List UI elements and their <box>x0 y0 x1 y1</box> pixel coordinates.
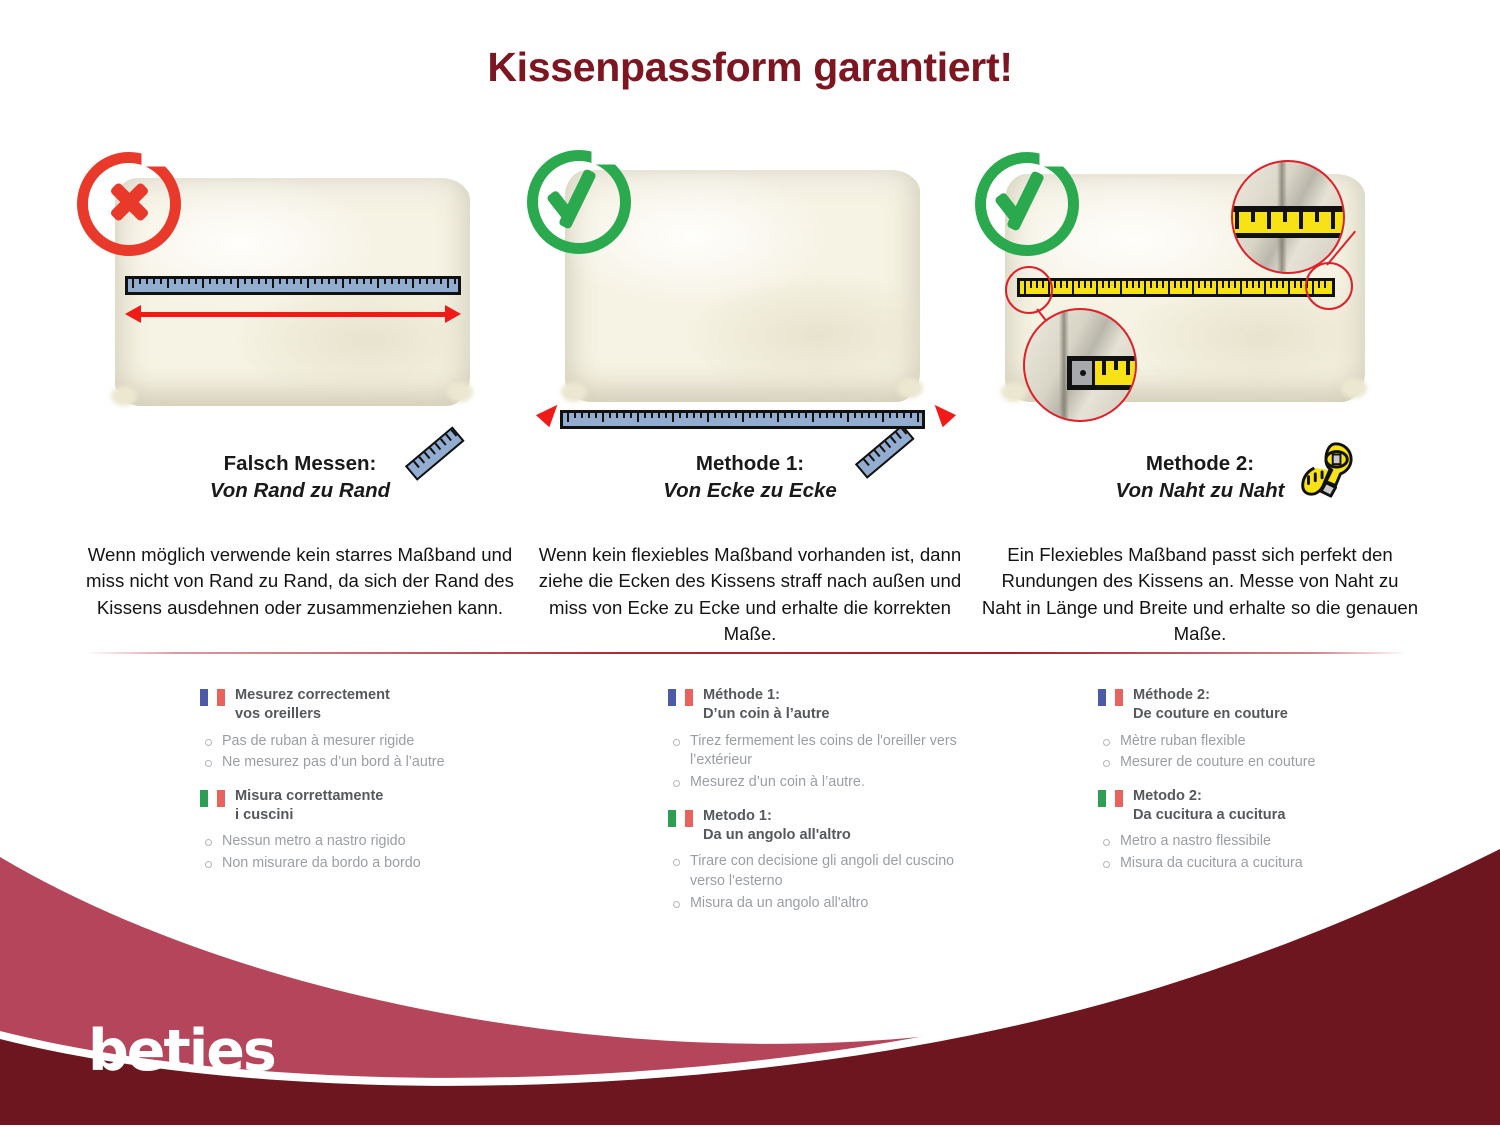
method-heading-3: Methode 2: Von Naht zu Naht <box>975 450 1425 520</box>
heading-sub: Von Naht zu Naht <box>975 477 1425 504</box>
pillow-corner <box>1341 378 1367 398</box>
page-title: Kissenpassform garantiert! <box>0 44 1500 91</box>
flag-italy-icon <box>200 790 225 807</box>
heading-line-1: Metodo 2: <box>1133 787 1285 806</box>
list-item: Mètre ruban flexible <box>1098 732 1408 752</box>
language-heading: Mesurez correctement vos oreillers <box>200 686 500 725</box>
heading-line-1: Misura correttamente <box>235 787 383 806</box>
method-column-3: Methode 2: Von Naht zu Naht Ein Flexiebl… <box>975 150 1425 640</box>
heading-line-2: D’un coin à l’autre <box>703 705 830 724</box>
language-heading: Metodo 2: Da cucitura a cucitura <box>1098 787 1408 826</box>
language-heading-text: Méthode 2: De couture en couture <box>1133 686 1288 725</box>
measurement-arrow <box>139 312 447 317</box>
cross-icon <box>101 174 157 230</box>
heading-main: Methode 2: <box>975 450 1425 477</box>
seam-zoom-bottom <box>1023 308 1137 422</box>
pillow-corner <box>561 382 587 402</box>
illustration-corner-to-corner <box>525 150 975 440</box>
language-bullets: Mètre ruban flexible Mesurer de couture … <box>1098 732 1408 773</box>
method-heading-1: Falsch Messen: Von Rand zu Rand <box>75 450 525 520</box>
heading-line-1: Méthode 1: <box>703 686 830 705</box>
flag-france-icon <box>668 689 693 706</box>
cross-badge <box>77 152 181 256</box>
heading-line-2: Da cucitura a cucitura <box>1133 806 1285 825</box>
corner-arrow-right <box>928 399 956 427</box>
method-column-2: Methode 1: Von Ecke zu Ecke Wenn kein fl… <box>525 150 975 640</box>
language-heading-text: Metodo 2: Da cucitura a cucitura <box>1133 787 1285 826</box>
method-heading-2: Methode 1: Von Ecke zu Ecke <box>525 450 975 520</box>
flexible-tape-measure <box>1017 278 1335 297</box>
language-heading-text: Misura correttamente i cuscini <box>235 787 383 826</box>
method-body-2: Wenn kein flexiebles Maßband vorhanden i… <box>525 542 975 648</box>
ruler-icon <box>855 444 913 502</box>
language-heading: Méthode 1: D’un coin à l’autre <box>668 686 978 725</box>
check-badge <box>975 152 1079 256</box>
list-item: Mesurez d’un coin à l’autre. <box>668 773 978 793</box>
tape-zoom-strip <box>1067 356 1137 390</box>
ruler-icon <box>405 446 463 504</box>
pillow-corner <box>447 382 473 402</box>
heading-line-2: vos oreillers <box>235 705 390 724</box>
language-group-fr: Méthode 1: D’un coin à l’autre Tirez fer… <box>668 686 978 793</box>
method-body-3: Ein Flexiebles Maßband passt sich perfek… <box>975 542 1425 648</box>
pillow-corner <box>1001 382 1027 402</box>
method-column-1: Falsch Messen: Von Rand zu Rand Wenn mög… <box>75 150 525 640</box>
language-group-fr: Mesurez correctement vos oreillers Pas d… <box>200 686 500 773</box>
heading-line-1: Metodo 1: <box>703 807 851 826</box>
list-item: Mesurer de couture en couture <box>1098 753 1408 773</box>
ruler-ticks <box>128 279 458 292</box>
tape-zoom-strip <box>1231 206 1345 238</box>
section-divider <box>85 652 1407 654</box>
heading-line-1: Mesurez correctement <box>235 686 390 705</box>
flag-france-icon <box>200 689 225 706</box>
list-item: Tirez fermement les coins de l'oreiller … <box>668 732 978 771</box>
tape-measure-icon <box>1293 438 1355 500</box>
language-bullets: Tirez fermement les coins de l'oreiller … <box>668 732 978 793</box>
check-icon <box>993 166 1067 230</box>
heading-line-2: i cuscini <box>235 806 383 825</box>
language-bullets: Pas de ruban à mesurer rigide Ne mesurez… <box>200 732 500 773</box>
check-icon <box>545 164 619 228</box>
pillow-corner <box>897 378 923 398</box>
seam-zoom-top <box>1231 160 1345 274</box>
language-heading: Misura correttamente i cuscini <box>200 787 500 826</box>
language-heading-text: Mesurez correctement vos oreillers <box>235 686 390 725</box>
tape-ticks <box>1020 281 1332 294</box>
flag-italy-icon <box>1098 790 1123 807</box>
pillow-corner <box>111 386 137 406</box>
check-badge <box>527 150 631 254</box>
list-item: Pas de ruban à mesurer rigide <box>200 732 500 752</box>
brand-logo: beties <box>88 1018 275 1084</box>
heading-line-2: De couture en couture <box>1133 705 1288 724</box>
heading-line-1: Méthode 2: <box>1133 686 1288 705</box>
list-item: Ne mesurez pas d’un bord à l’autre <box>200 753 500 773</box>
method-body-1: Wenn möglich verwende kein starres Maßba… <box>75 542 525 621</box>
callout-circle-left <box>1005 266 1053 314</box>
callout-circle-right <box>1305 262 1353 310</box>
ruler-ticks <box>563 413 922 426</box>
flag-france-icon <box>1098 689 1123 706</box>
rigid-ruler <box>560 410 925 429</box>
illustration-seam-to-seam <box>975 150 1425 440</box>
flag-italy-icon <box>668 810 693 827</box>
language-group-fr: Méthode 2: De couture en couture Mètre r… <box>1098 686 1408 773</box>
language-heading: Méthode 2: De couture en couture <box>1098 686 1408 725</box>
methods-columns: Falsch Messen: Von Rand zu Rand Wenn mög… <box>0 150 1500 640</box>
rigid-ruler <box>125 276 461 295</box>
illustration-wrong-measurement <box>75 150 525 440</box>
language-heading-text: Méthode 1: D’un coin à l’autre <box>703 686 830 725</box>
